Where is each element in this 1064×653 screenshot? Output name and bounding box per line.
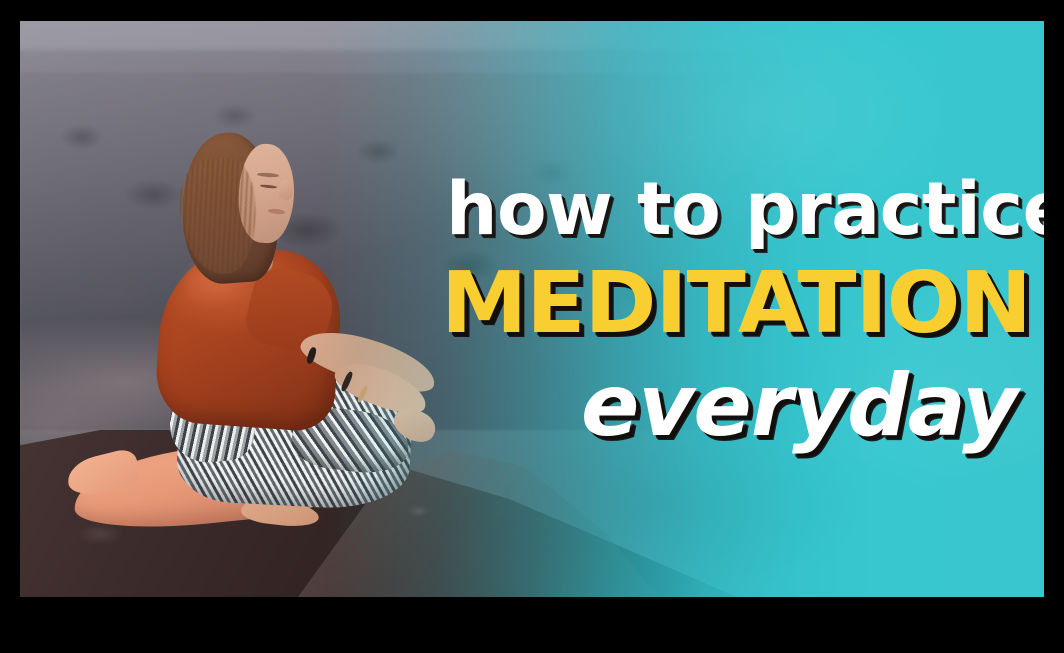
screenshot-canvas: how to practice MEDITATION everyday xyxy=(0,0,1064,653)
video-thumbnail: how to practice MEDITATION everyday xyxy=(20,21,1044,597)
teal-gradient-overlay xyxy=(20,21,1044,597)
